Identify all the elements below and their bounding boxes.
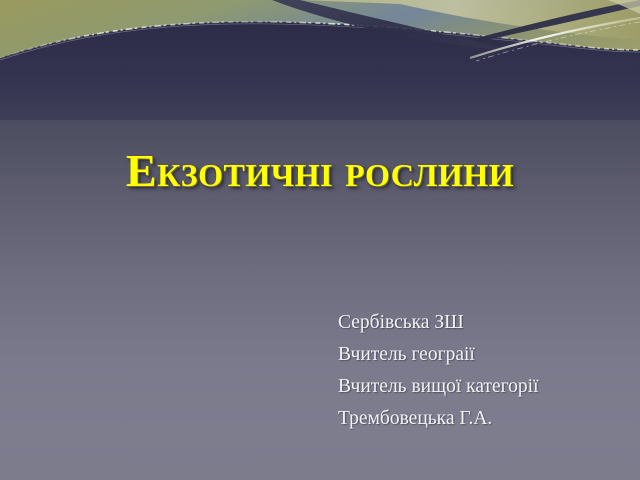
- top-wave-decoration: [0, 0, 640, 120]
- slide-title: Екзотичні рослини: [0, 148, 640, 194]
- presentation-slide: Екзотичні рослини Сербівська ЗШ Вчитель …: [0, 0, 640, 480]
- subtitle-line-author: Трембовецька Г.А.: [338, 403, 628, 435]
- slide-subtitle-block: Сербівська ЗШ Вчитель геограії Вчитель в…: [338, 307, 628, 435]
- subtitle-line-school: Сербівська ЗШ: [338, 307, 628, 339]
- subtitle-line-subject: Вчитель геограії: [338, 339, 628, 371]
- subtitle-line-category: Вчитель вищої категорії: [338, 371, 628, 403]
